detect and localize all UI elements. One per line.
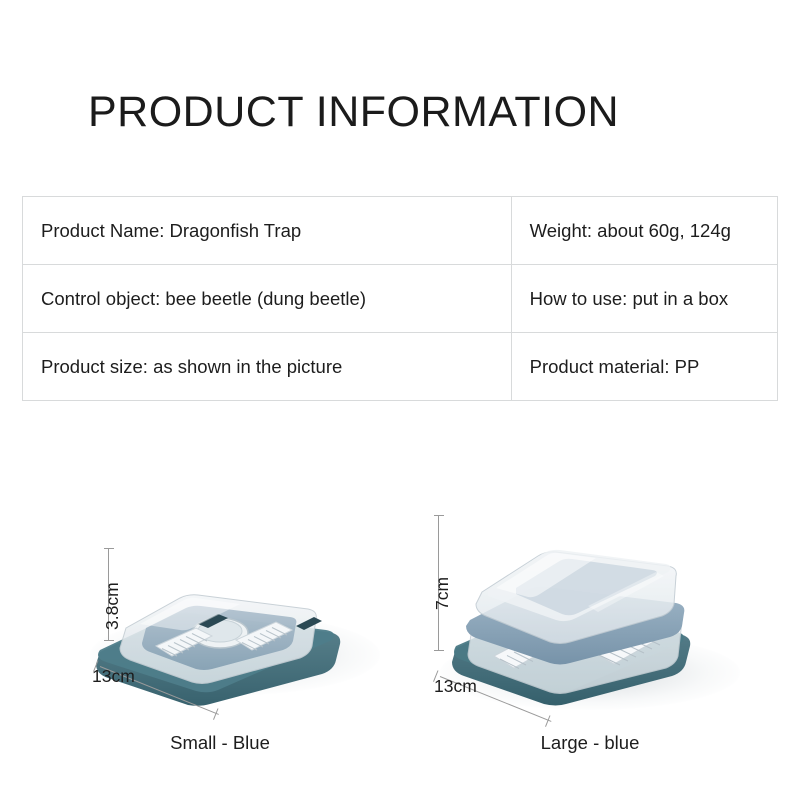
small-height-tick-bottom [104,640,114,641]
product-photos: 3.8cm 13cm Small - Blue [0,470,800,800]
table-row: Control object: bee beetle (dung beetle)… [23,265,778,333]
large-height-tick-bottom [434,650,444,651]
page-title: PRODUCT INFORMATION [88,88,619,137]
product-small-blue: 3.8cm 13cm Small - Blue [60,470,380,770]
large-product-caption: Large - blue [460,732,720,754]
product-information-page: PRODUCT INFORMATION Product Name: Dragon… [0,0,800,800]
small-width-label: 13cm [92,666,135,687]
small-product-caption: Small - Blue [90,732,350,754]
small-height-tick-top [104,548,114,549]
spec-product-name: Product Name: Dragonfish Trap [23,197,512,265]
table-row: Product size: as shown in the picture Pr… [23,333,778,401]
table-row: Product Name: Dragonfish Trap Weight: ab… [23,197,778,265]
product-large-blue: 7cm 13cm Large - blue [420,470,750,770]
large-height-tick-top [434,515,444,516]
spec-weight: Weight: about 60g, 124g [511,197,777,265]
spec-how-to-use: How to use: put in a box [511,265,777,333]
spec-control-object: Control object: bee beetle (dung beetle) [23,265,512,333]
spec-product-material: Product material: PP [511,333,777,401]
large-width-label: 13cm [434,676,477,697]
specification-table: Product Name: Dragonfish Trap Weight: ab… [22,196,778,401]
small-height-label: 3.8cm [102,582,123,630]
spec-product-size: Product size: as shown in the picture [23,333,512,401]
large-height-label: 7cm [432,577,453,610]
